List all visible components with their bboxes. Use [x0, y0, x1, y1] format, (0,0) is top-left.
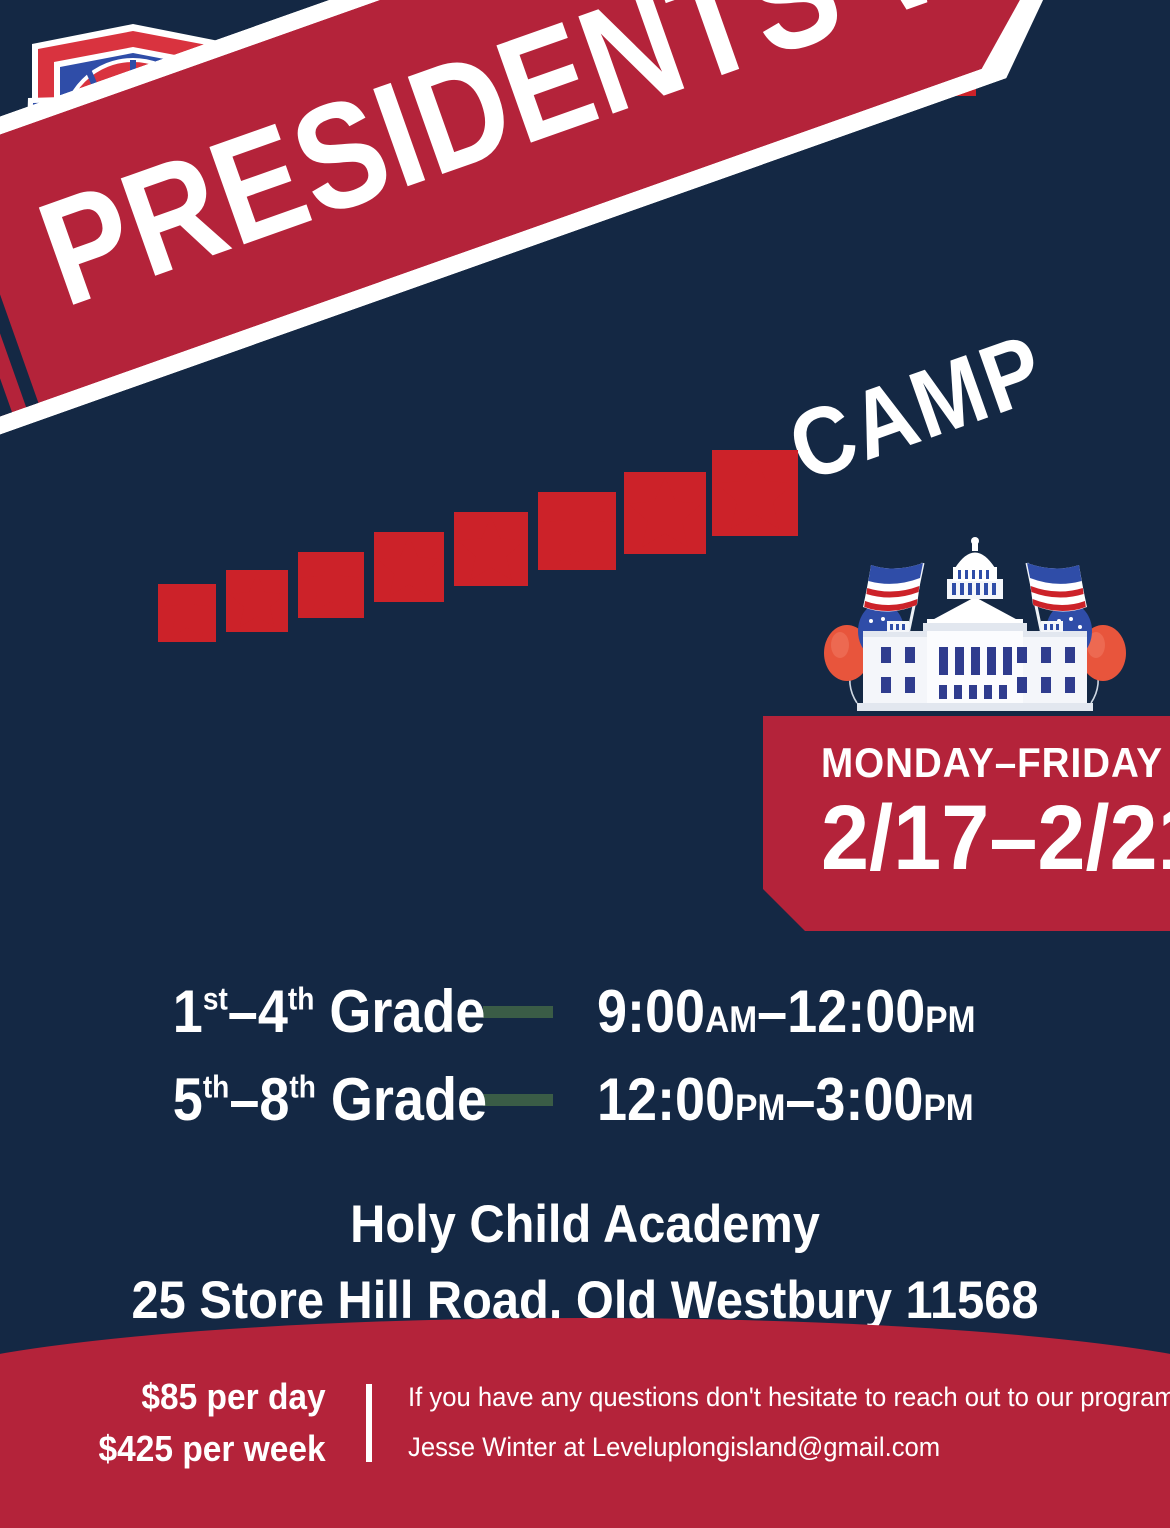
decorative-star-icon: [712, 450, 798, 536]
contact-line-2: Jesse Winter at Leveluplongisland@gmail.…: [408, 1423, 1170, 1473]
venue-name: Holy Child Academy: [47, 1196, 1123, 1254]
price-per-day: $85 per day: [99, 1371, 326, 1423]
footer-bar: $85 per day $425 per week If you have an…: [0, 1318, 1170, 1528]
banner-stripe: [0, 162, 12, 417]
schedule-row: 1st–4th Grade 9:00AM–12:00PM: [0, 968, 1170, 1056]
decorative-star-icon: [298, 552, 364, 618]
footer-content: $85 per day $425 per week If you have an…: [0, 1318, 1170, 1528]
decorative-star-icon: [226, 570, 288, 632]
time-range-label: 9:00AM–12:00PM: [597, 982, 975, 1042]
price-per-week: $425 per week: [99, 1423, 326, 1475]
decorative-star-icon: [454, 512, 528, 586]
date-days-label: MONDAY–FRIDAY: [821, 742, 1114, 784]
decorative-star-icon: [158, 584, 216, 642]
us-flag-icon: [1027, 563, 1087, 612]
schedule-separator-dash: [483, 1006, 553, 1018]
date-range-label: 2/17–2/21: [821, 792, 1121, 886]
contact-block: If you have any questions don't hesitate…: [408, 1373, 1170, 1473]
time-range-label: 12:00PM–3:00PM: [597, 1070, 975, 1130]
schedule-row: 5th–8th Grade 12:00PM–3:00PM: [0, 1056, 1170, 1144]
decorative-star-icon: [538, 492, 616, 570]
grade-range-label: 1st–4th Grade: [153, 982, 441, 1042]
decorative-star-icon: [374, 532, 444, 602]
contact-line-1: If you have any questions don't hesitate…: [408, 1373, 1170, 1423]
schedule-separator-dash: [483, 1094, 553, 1106]
capitol-illustration: [795, 535, 1155, 735]
date-badge: MONDAY–FRIDAY 2/17–2/21: [763, 716, 1170, 931]
capitol-building-icon: [857, 537, 1093, 711]
us-flag-icon: [863, 563, 923, 612]
banner-subtitle: CAMP: [778, 320, 1057, 498]
grade-range-label: 5th–8th Grade: [153, 1070, 441, 1130]
schedule-list: 1st–4th Grade 9:00AM–12:00PM 5th–8th Gra…: [0, 968, 1170, 1144]
venue-block: Holy Child Academy 25 Store Hill Road, O…: [0, 1196, 1170, 1331]
decorative-star-icon: [624, 472, 706, 554]
presidents-week-camp-flyer: LEVEL UP LI PRESIDENTS WEEK CAMP: [0, 0, 1170, 1528]
pricing-block: $85 per day $425 per week: [99, 1371, 326, 1475]
footer-divider: [366, 1384, 372, 1462]
